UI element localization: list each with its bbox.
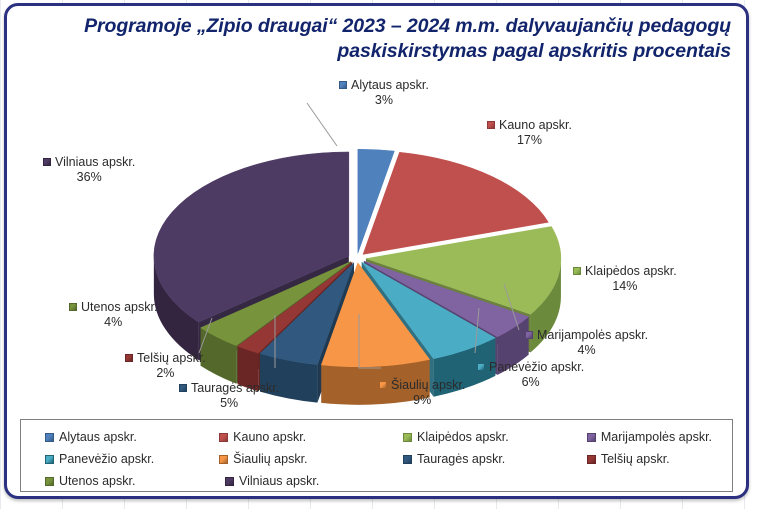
swatch-marijampoles: [525, 331, 533, 339]
swatch-vilniaus: [43, 158, 51, 166]
chart-title-line2: paskiskirstymas pagal apskritis procenta…: [25, 39, 731, 64]
swatch-taurages: [179, 384, 187, 392]
legend-row: Panevėžio apskr. Šiaulių apskr. Tauragės…: [21, 448, 732, 470]
legend-row: Alytaus apskr. Kauno apskr. Klaipėdos ap…: [21, 426, 732, 448]
legend-swatch-kauno: [219, 433, 228, 442]
legend-label: Šiaulių apskr.: [233, 452, 307, 466]
legend-swatch-klaipedos: [403, 433, 412, 442]
data-label-kauno: Kauno apskr. 17%: [487, 118, 572, 148]
legend-swatch-telsiu: [587, 455, 596, 464]
legend-swatch-marijampoles: [587, 433, 596, 442]
legend-item-vilniaus[interactable]: Vilniaus apskr.: [225, 474, 415, 488]
legend-item-taurages[interactable]: Tauragės apskr.: [403, 452, 587, 466]
pie-chart-svg[interactable]: [7, 68, 746, 416]
data-label-utenos: Utenos apskr. 4%: [69, 300, 157, 330]
legend-item-marijampoles[interactable]: Marijampolės apskr.: [587, 430, 732, 444]
legend-item-telsiu[interactable]: Telšių apskr.: [587, 452, 732, 466]
swatch-telsiu: [125, 354, 133, 362]
data-label-marijampoles: Marijampolės apskr. 4%: [525, 328, 648, 358]
chart-title: Programoje „Zipio draugai“ 2023 – 2024 m…: [25, 14, 731, 64]
data-label-telsiu: Telšių apskr. 2%: [125, 351, 206, 381]
legend-label: Utenos apskr.: [59, 474, 135, 488]
legend-label: Marijampolės apskr.: [601, 430, 712, 444]
legend-label: Vilniaus apskr.: [239, 474, 319, 488]
data-label-alytaus: Alytaus apskr. 3%: [339, 78, 429, 108]
legend-swatch-vilniaus: [225, 477, 234, 486]
data-label-klaipedos: Klaipėdos apskr. 14%: [573, 264, 677, 294]
legend-label: Klaipėdos apskr.: [417, 430, 509, 444]
legend-item-kauno[interactable]: Kauno apskr.: [219, 430, 403, 444]
legend-item-alytaus[interactable]: Alytaus apskr.: [45, 430, 219, 444]
legend-label: Panevėžio apskr.: [59, 452, 154, 466]
legend-label: Kauno apskr.: [233, 430, 306, 444]
legend-swatch-siauliu: [219, 455, 228, 464]
legend-swatch-panevezio: [45, 455, 54, 464]
data-label-panevezio: Panevėžio apskr. 6%: [477, 360, 584, 390]
swatch-alytaus: [339, 81, 347, 89]
data-label-taurages: Tauragės apskr. 5%: [179, 381, 279, 411]
legend-label: Tauragės apskr.: [417, 452, 505, 466]
chart-title-line1: Programoje „Zipio draugai“ 2023 – 2024 m…: [25, 14, 731, 39]
legend-row: Utenos apskr. Vilniaus apskr.: [21, 470, 732, 492]
legend-label: Alytaus apskr.: [59, 430, 137, 444]
legend-item-siauliu[interactable]: Šiaulių apskr.: [219, 452, 403, 466]
swatch-kauno: [487, 121, 495, 129]
data-label-vilniaus: Vilniaus apskr. 36%: [43, 155, 135, 185]
plot-area: Alytaus apskr. 3% Kauno apskr. 17% Klaip…: [7, 68, 746, 416]
chart-legend[interactable]: Alytaus apskr. Kauno apskr. Klaipėdos ap…: [20, 419, 733, 492]
swatch-utenos: [69, 303, 77, 311]
chart-screenshot: Programoje „Zipio draugai“ 2023 – 2024 m…: [0, 0, 759, 509]
leader-line-alytaus: [307, 103, 337, 146]
legend-item-klaipedos[interactable]: Klaipėdos apskr.: [403, 430, 587, 444]
legend-label: Telšių apskr.: [601, 452, 670, 466]
swatch-siauliu: [379, 381, 387, 389]
chart-frame[interactable]: Programoje „Zipio draugai“ 2023 – 2024 m…: [4, 3, 749, 499]
legend-swatch-utenos: [45, 477, 54, 486]
data-label-siauliu: Šiaulių apskr. 9%: [379, 378, 465, 408]
swatch-panevezio: [477, 363, 485, 371]
swatch-klaipedos: [573, 267, 581, 275]
legend-swatch-alytaus: [45, 433, 54, 442]
legend-item-panevezio[interactable]: Panevėžio apskr.: [45, 452, 219, 466]
legend-swatch-taurages: [403, 455, 412, 464]
legend-item-utenos[interactable]: Utenos apskr.: [45, 474, 225, 488]
